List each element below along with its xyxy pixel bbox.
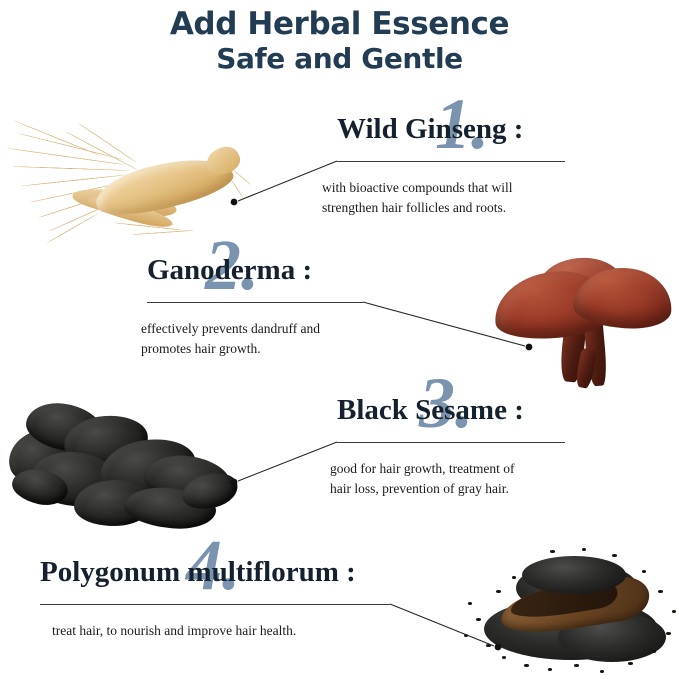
section-rule-3 — [337, 442, 565, 443]
section-heading-4: Polygonum multiflorum : — [40, 556, 356, 588]
section-body-4: treat hair, to nourish and improve hair … — [52, 621, 392, 641]
section-rule-2 — [147, 302, 363, 303]
section-rule-4 — [40, 604, 390, 605]
infographic-canvas: Add Herbal Essence Safe and Gentle 1. Wi… — [0, 0, 679, 679]
title-line-1: Add Herbal Essence — [0, 6, 679, 42]
dried-dark-slices-photo — [4, 396, 240, 532]
title-line-2: Safe and Gentle — [0, 42, 679, 75]
section-ganoderma: 2. Ganoderma : — [147, 253, 447, 295]
ganoderma-reishi-mushroom-photo — [482, 250, 670, 390]
section-polygonum-multiflorum: 4. Polygonum multiflorum : — [40, 555, 420, 597]
section-heading-1: Wild Ginseng : — [337, 113, 523, 145]
heading-wrap-1: 1. Wild Ginseng : — [337, 112, 637, 154]
heading-wrap-2: 2. Ganoderma : — [147, 253, 447, 295]
section-heading-2: Ganoderma : — [147, 254, 312, 286]
section-body-2: effectively prevents dandruff and promot… — [141, 319, 411, 359]
black-sesame-seeds-scoop-photo — [462, 546, 678, 678]
heading-wrap-4: 4. Polygonum multiflorum : — [40, 555, 420, 597]
connector-line-3 — [238, 442, 337, 481]
section-body-1: with bioactive compounds that will stren… — [322, 178, 592, 218]
wild-ginseng-root-photo — [2, 132, 247, 247]
section-rule-1 — [337, 161, 565, 162]
section-black-sesame: 3. Black Sesame : — [337, 393, 637, 435]
section-body-3: good for hair growth, treatment of hair … — [330, 459, 600, 499]
page-title: Add Herbal Essence Safe and Gentle — [0, 6, 679, 75]
section-heading-3: Black Sesame : — [337, 394, 524, 426]
section-wild-ginseng: 1. Wild Ginseng : — [337, 112, 637, 154]
heading-wrap-3: 3. Black Sesame : — [337, 393, 637, 435]
